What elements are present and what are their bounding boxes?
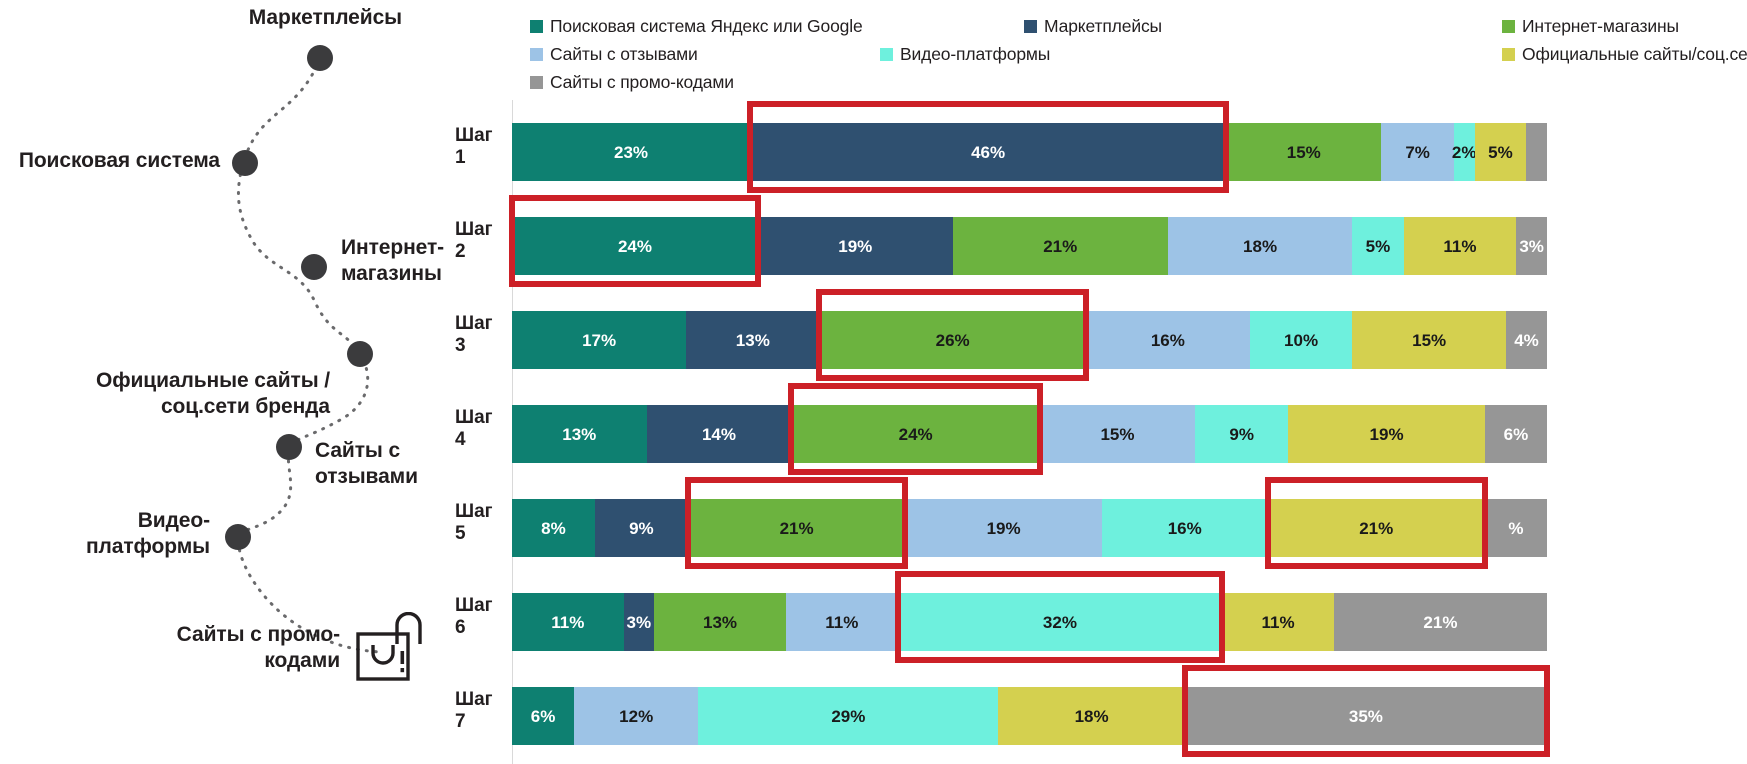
bar-segment-value: 21% <box>1359 520 1393 537</box>
bar-segment: 11% <box>786 593 898 651</box>
bar-segment: 13% <box>512 405 647 463</box>
bar-segment-value: 15% <box>1412 332 1446 349</box>
bar-segment-value: 15% <box>1287 144 1321 161</box>
bar-segment: 9% <box>1195 405 1288 463</box>
bar-segment-value: 7% <box>1405 144 1430 161</box>
legend-item-5[interactable]: Видео-платформы <box>880 44 1050 65</box>
chart-row: Шаг 58%9%21%19%16%21%% <box>455 476 1747 570</box>
bar-segment-value: 13% <box>703 614 737 631</box>
bar-segment-value: 11% <box>1262 614 1295 631</box>
legend-swatch-icon <box>1502 48 1515 61</box>
stacked-bar: 8%9%21%19%16%21%% <box>512 499 1547 557</box>
journey-dot-3 <box>301 254 327 280</box>
legend-swatch-icon <box>880 48 893 61</box>
bar-segment-value: 5% <box>1488 144 1513 161</box>
chart-row: Шаг 317%13%26%16%10%15%4% <box>455 288 1747 382</box>
bar-segment-value: 35% <box>1349 708 1383 725</box>
legend-item-7[interactable]: Сайты с промо-кодами <box>530 72 734 93</box>
chart-row: Шаг 413%14%24%15%9%19%6% <box>455 382 1747 476</box>
legend-label: Сайты с промо-кодами <box>550 72 734 93</box>
journey-label-1: Маркетплейсы <box>92 5 402 31</box>
legend-swatch-icon <box>530 48 543 61</box>
row-category-label: Шаг 7 <box>455 664 505 758</box>
bar-segment: 15% <box>1226 123 1381 181</box>
legend-label: Интернет-магазины <box>1522 16 1679 37</box>
bar-segment: 18% <box>998 687 1184 745</box>
bar-segment: 17% <box>512 311 686 369</box>
bar-segment: 6% <box>512 687 574 745</box>
bar-segment: 16% <box>1086 311 1250 369</box>
bar-segment: % <box>1485 499 1547 557</box>
journey-label-2: Поисковая система <box>0 148 220 174</box>
bar-segment-value: 9% <box>629 520 654 537</box>
legend-item-1[interactable]: Поисковая система Яндекс или Google <box>530 16 863 37</box>
bar-segment-value: 26% <box>936 332 970 349</box>
bar-segment-value: 29% <box>831 708 865 725</box>
legend-label: Поисковая система Яндекс или Google <box>550 16 863 37</box>
bar-segment: 23% <box>512 123 750 181</box>
legend-item-3[interactable]: Интернет-магазины <box>1502 16 1679 37</box>
bar-segment-value: 19% <box>987 520 1021 537</box>
bar-segment-value: 4% <box>1514 332 1539 349</box>
bar-segment-value: 14% <box>702 426 736 443</box>
bar-segment-value: 19% <box>838 238 872 255</box>
bar-segment: 12% <box>574 687 698 745</box>
bar-segment-value: 21% <box>1423 614 1457 631</box>
bar-segment-value: 11% <box>1443 238 1476 255</box>
journey-label-4: Официальные сайты / соц.сети бренда <box>60 368 330 419</box>
legend-swatch-icon <box>1024 20 1037 33</box>
journey-dot-6 <box>225 524 251 550</box>
bar-segment-value: 13% <box>562 426 596 443</box>
bar-segment: 24% <box>512 217 758 275</box>
bar-segment: 24% <box>791 405 1039 463</box>
bar-segment: 11% <box>512 593 624 651</box>
shopping-bag-icon <box>355 612 427 682</box>
stacked-bar: 17%13%26%16%10%15%4% <box>512 311 1547 369</box>
bar-segment-value: 2% <box>1452 144 1477 161</box>
customer-journey-panel: МаркетплейсыПоисковая системаИнтернет- м… <box>0 0 512 764</box>
bar-segment-value: 19% <box>1370 426 1404 443</box>
row-category-label: Шаг 5 <box>455 476 505 570</box>
bar-segment: 16% <box>1102 499 1268 557</box>
row-category-label: Шаг 6 <box>455 570 505 664</box>
chart-row: Шаг 611%3%13%11%32%11%21% <box>455 570 1747 664</box>
bar-segment: 13% <box>654 593 786 651</box>
bar-segment-value: 11% <box>551 614 584 631</box>
bar-segment: 13% <box>686 311 819 369</box>
journey-label-5: Сайты с отзывами <box>315 438 465 489</box>
stacked-bar: 6%12%29%18%35% <box>512 687 1547 745</box>
legend-swatch-icon <box>1502 20 1515 33</box>
bar-segment: 29% <box>698 687 998 745</box>
bar-segment-value: 24% <box>899 426 933 443</box>
bar-segment-value: 21% <box>780 520 814 537</box>
bar-segment: 11% <box>1404 217 1517 275</box>
bar-segment-value: 11% <box>825 614 858 631</box>
row-category-label: Шаг 3 <box>455 288 505 382</box>
stacked-bar-chart: Шаг 123%46%15%7%2%5%Шаг 224%19%21%18%5%1… <box>455 100 1747 764</box>
chart-row: Шаг 123%46%15%7%2%5% <box>455 100 1747 194</box>
chart-legend: Поисковая система Яндекс или GoogleМарке… <box>512 12 1747 98</box>
bar-segment: 18% <box>1168 217 1352 275</box>
bar-segment-value: 15% <box>1100 426 1134 443</box>
bar-segment: 26% <box>819 311 1085 369</box>
bar-segment: 19% <box>905 499 1102 557</box>
bar-segment-value: 21% <box>1043 238 1077 255</box>
legend-swatch-icon <box>530 20 543 33</box>
bar-segment: 8% <box>512 499 595 557</box>
journey-dot-5 <box>276 434 302 460</box>
bar-segment: 35% <box>1185 687 1547 745</box>
legend-item-4[interactable]: Сайты с отзывами <box>530 44 698 65</box>
bar-segment-value: 12% <box>619 708 653 725</box>
bar-segment: 15% <box>1352 311 1506 369</box>
bar-segment-value: 8% <box>541 520 566 537</box>
journey-label-7: Сайты с промо- кодами <box>110 622 340 673</box>
bar-segment-value: 10% <box>1284 332 1318 349</box>
journey-dot-2 <box>232 150 258 176</box>
bar-segment: 21% <box>1268 499 1485 557</box>
bar-segment-value: 17% <box>582 332 616 349</box>
bar-segment: 3% <box>1516 217 1547 275</box>
journey-dot-4 <box>347 341 373 367</box>
bar-segment: 9% <box>595 499 688 557</box>
bar-segment-value: 16% <box>1151 332 1185 349</box>
bar-segment: 6% <box>1485 405 1547 463</box>
legend-item-6[interactable]: Официальные сайты/соц.сети брендов <box>1502 44 1747 65</box>
bar-segment-value: 3% <box>1519 238 1544 255</box>
bar-segment-value: % <box>1508 520 1523 537</box>
legend-label: Официальные сайты/соц.сети брендов <box>1522 44 1747 65</box>
row-category-label: Шаг 1 <box>455 100 505 194</box>
journey-dot-1 <box>307 45 333 71</box>
legend-label: Видео-платформы <box>900 44 1050 65</box>
bar-segment: 5% <box>1475 123 1527 181</box>
bar-segment: 2% <box>1454 123 1475 181</box>
journey-label-6: Видео- платформы <box>50 508 210 559</box>
bar-segment-value: 5% <box>1366 238 1391 255</box>
bar-segment: 3% <box>624 593 654 651</box>
row-category-label: Шаг 4 <box>455 382 505 476</box>
bar-segment: 15% <box>1040 405 1195 463</box>
bar-segment: 21% <box>953 217 1168 275</box>
bar-segment-value: 3% <box>627 614 652 631</box>
bar-segment-value: 18% <box>1243 238 1277 255</box>
bar-segment: 4% <box>1506 311 1547 369</box>
stacked-bar: 11%3%13%11%32%11%21% <box>512 593 1547 651</box>
bar-segment-value: 6% <box>1504 426 1529 443</box>
bar-segment-value: 6% <box>531 708 556 725</box>
bar-segment-value: 18% <box>1075 708 1109 725</box>
chart-row: Шаг 76%12%29%18%35% <box>455 664 1747 758</box>
bar-segment: 10% <box>1250 311 1352 369</box>
bar-segment: 46% <box>750 123 1226 181</box>
bar-segment: 7% <box>1381 123 1453 181</box>
bar-segment: 11% <box>1222 593 1334 651</box>
bar-segment-value: 24% <box>618 238 652 255</box>
infographic-canvas: МаркетплейсыПоисковая системаИнтернет- м… <box>0 0 1747 764</box>
bar-segment: 19% <box>1288 405 1485 463</box>
bar-segment-value: 46% <box>971 144 1005 161</box>
legend-swatch-icon <box>530 76 543 89</box>
bar-segment-value: 13% <box>736 332 770 349</box>
legend-label: Сайты с отзывами <box>550 44 698 65</box>
bar-segment: 21% <box>1334 593 1547 651</box>
stacked-bar: 13%14%24%15%9%19%6% <box>512 405 1547 463</box>
bar-segment-value: 23% <box>614 144 648 161</box>
bar-segment: 14% <box>647 405 792 463</box>
row-category-label: Шаг 2 <box>455 194 505 288</box>
bar-segment-value: 32% <box>1043 614 1077 631</box>
bar-segment: 5% <box>1352 217 1403 275</box>
legend-label: Маркетплейсы <box>1044 16 1162 37</box>
legend-item-2[interactable]: Маркетплейсы <box>1024 16 1162 37</box>
stacked-bar: 24%19%21%18%5%11%3% <box>512 217 1547 275</box>
bar-segment-value: 9% <box>1229 426 1254 443</box>
bar-segment-value: 16% <box>1168 520 1202 537</box>
bar-segment: 21% <box>688 499 905 557</box>
stacked-bar: 23%46%15%7%2%5% <box>512 123 1547 181</box>
bar-segment: 19% <box>758 217 953 275</box>
bar-segment <box>1526 123 1547 181</box>
bar-segment: 32% <box>898 593 1223 651</box>
chart-row: Шаг 224%19%21%18%5%11%3% <box>455 194 1747 288</box>
